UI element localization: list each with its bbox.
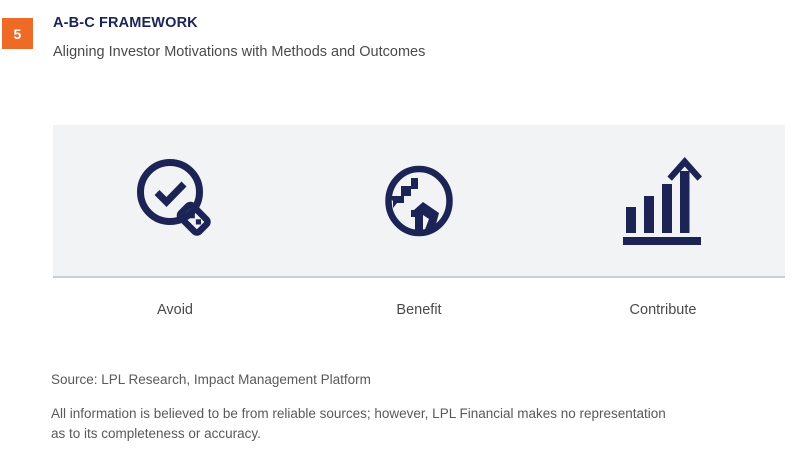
icon-row xyxy=(53,125,785,276)
magnifier-check-icon xyxy=(133,155,217,247)
slide-number-text: 5 xyxy=(14,26,22,42)
source-line: Source: LPL Research, Impact Management … xyxy=(51,371,371,389)
header-block: A-B-C FRAMEWORK Aligning Investor Motiva… xyxy=(53,14,753,62)
disclaimer-text: All information is believed to be from r… xyxy=(51,404,731,444)
framework-label-benefit: Benefit xyxy=(297,300,541,320)
framework-column-contribute xyxy=(541,125,785,276)
framework-label-avoid: Avoid xyxy=(53,300,297,320)
page-title: A-B-C FRAMEWORK xyxy=(53,14,753,32)
disclaimer-line-2: as to its completeness or accuracy. xyxy=(51,424,731,444)
growth-bar-chart-arrow-icon xyxy=(622,155,704,247)
framework-column-benefit xyxy=(297,125,541,276)
globe-icon xyxy=(384,165,454,237)
disclaimer-line-1: All information is believed to be from r… xyxy=(51,404,731,424)
framework-label-row: Avoid Benefit Contribute xyxy=(53,300,785,320)
slide-number-badge: 5 xyxy=(2,18,33,49)
framework-label-contribute: Contribute xyxy=(541,300,785,320)
page-subtitle: Aligning Investor Motivations with Metho… xyxy=(53,42,753,62)
framework-column-avoid xyxy=(53,125,297,276)
